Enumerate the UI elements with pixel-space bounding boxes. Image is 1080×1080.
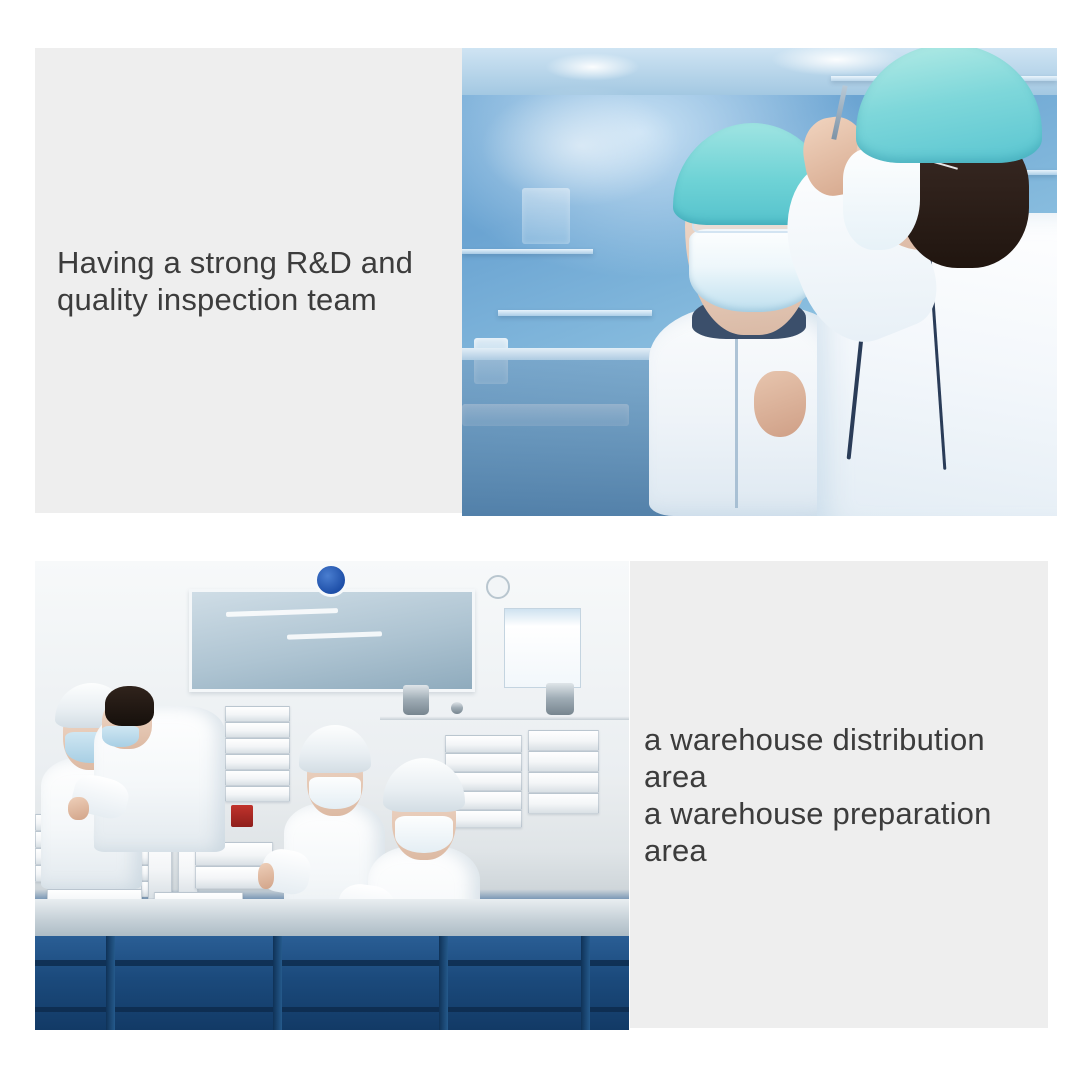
wall-shelf bbox=[380, 716, 629, 720]
lab-coat-seam bbox=[735, 312, 738, 509]
carton-stack bbox=[225, 706, 290, 722]
page-root: Having a strong R&D and quality inspecti… bbox=[0, 0, 1080, 1080]
lab-equipment bbox=[522, 188, 570, 244]
carton-stack bbox=[528, 772, 599, 793]
stainless-pot bbox=[546, 683, 574, 715]
warehouse-worker-bending bbox=[94, 655, 225, 852]
carton-stack bbox=[225, 738, 290, 754]
lab-shelf bbox=[498, 310, 653, 316]
lab-inspection-photo bbox=[462, 48, 1057, 516]
face-mask bbox=[395, 816, 454, 853]
carton-stack bbox=[528, 793, 599, 814]
carton-stack bbox=[528, 751, 599, 772]
worker-hand bbox=[68, 797, 89, 821]
wall-notice-board bbox=[504, 608, 581, 688]
lab-worker-right bbox=[760, 57, 1058, 516]
rnd-caption-panel: Having a strong R&D and quality inspecti… bbox=[35, 48, 465, 513]
face-mask bbox=[309, 777, 362, 809]
carton-stack bbox=[225, 754, 290, 770]
stainless-pot bbox=[403, 685, 429, 715]
worker-hand bbox=[258, 863, 274, 889]
rnd-caption-text: Having a strong R&D and quality inspecti… bbox=[57, 244, 413, 318]
window-light-strip bbox=[226, 608, 338, 617]
interior-window bbox=[189, 589, 474, 692]
table-leg bbox=[273, 936, 282, 1030]
carton-stack bbox=[528, 730, 599, 751]
carton-stack bbox=[445, 735, 522, 754]
hairnet-cap bbox=[383, 758, 464, 812]
table-leg bbox=[581, 936, 590, 1030]
lab-shelf bbox=[462, 249, 593, 254]
warehouse-packing-photo bbox=[35, 561, 629, 1030]
carton-stack bbox=[225, 786, 290, 802]
warehouse-caption-text: a warehouse distribution area a warehous… bbox=[644, 721, 1048, 869]
red-crate bbox=[231, 805, 253, 827]
carton-stack bbox=[225, 770, 290, 786]
table-rail bbox=[35, 1007, 629, 1012]
table-undercarriage bbox=[35, 936, 629, 1030]
hairnet-cap bbox=[856, 48, 1042, 163]
table-leg bbox=[106, 936, 115, 1030]
ceiling-light-icon bbox=[545, 53, 640, 81]
hairnet-cap bbox=[299, 725, 372, 772]
small-container bbox=[451, 702, 463, 714]
table-rail bbox=[35, 960, 629, 966]
worker-hair bbox=[105, 686, 155, 725]
table-leg bbox=[439, 936, 448, 1030]
face-mask bbox=[102, 726, 139, 748]
carton-stack bbox=[225, 722, 290, 738]
face-mask bbox=[843, 149, 920, 250]
warehouse-caption-panel: a warehouse distribution area a warehous… bbox=[630, 561, 1048, 1028]
window-light-strip bbox=[287, 631, 382, 639]
